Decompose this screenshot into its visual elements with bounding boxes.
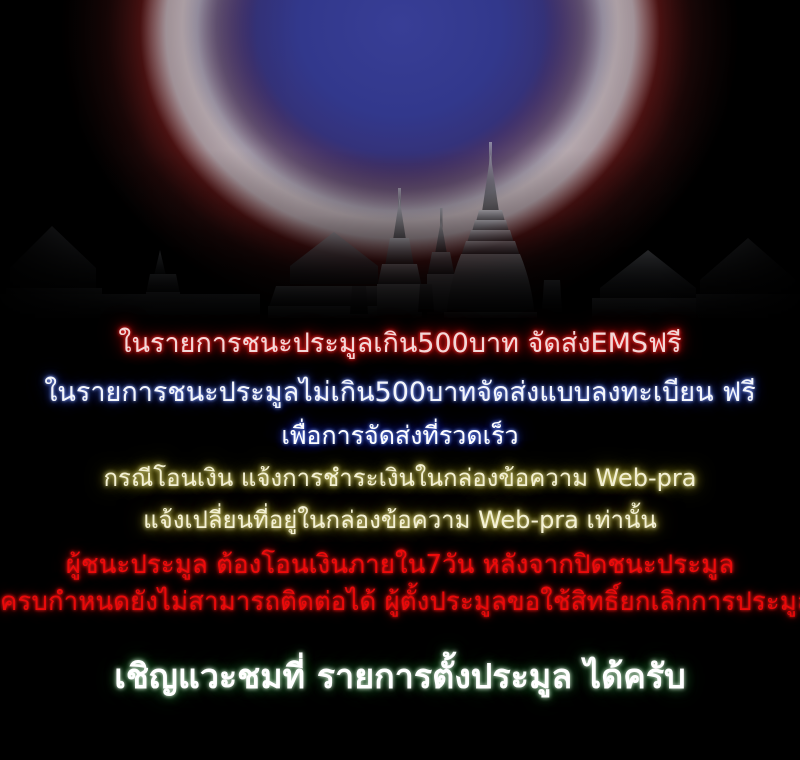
line-invitation: เชิญแวะชมที่ รายการตั้งประมูล ได้ครับ — [0, 660, 800, 694]
line-shipping-free-registered: ในรายการชนะประมูลไม่เกิน500บาทจัดส่งแบบล… — [0, 379, 800, 406]
line-fast-delivery: เพื่อการจัดส่งที่รวดเร็ว — [0, 423, 800, 448]
line-payment-notice: กรณีโอนเงิน แจ้งการชำระเงินในกล่องข้อควา… — [0, 466, 800, 490]
line-address-change-notice: แจ้งเปลี่ยนที่อยู่ในกล่องข้อความ Web-pra… — [0, 508, 800, 532]
line-payment-deadline: ผู้ชนะประมูล ต้องโอนเงินภายใน7วัน หลังจา… — [0, 552, 800, 578]
line-cancellation-rights: ครบกำหนดยังไม่สามารถติดต่อได้ ผู้ตั้งประ… — [0, 589, 800, 615]
line-shipping-free-ems: ในรายการชนะประมูลเกิน500บาท จัดส่งEMSฟรี — [0, 330, 800, 357]
terms-text-block: ในรายการชนะประมูลเกิน500บาท จัดส่งEMSฟรี… — [0, 0, 800, 760]
auction-terms-banner: ในรายการชนะประมูลเกิน500บาท จัดส่งEMSฟรี… — [0, 0, 800, 760]
